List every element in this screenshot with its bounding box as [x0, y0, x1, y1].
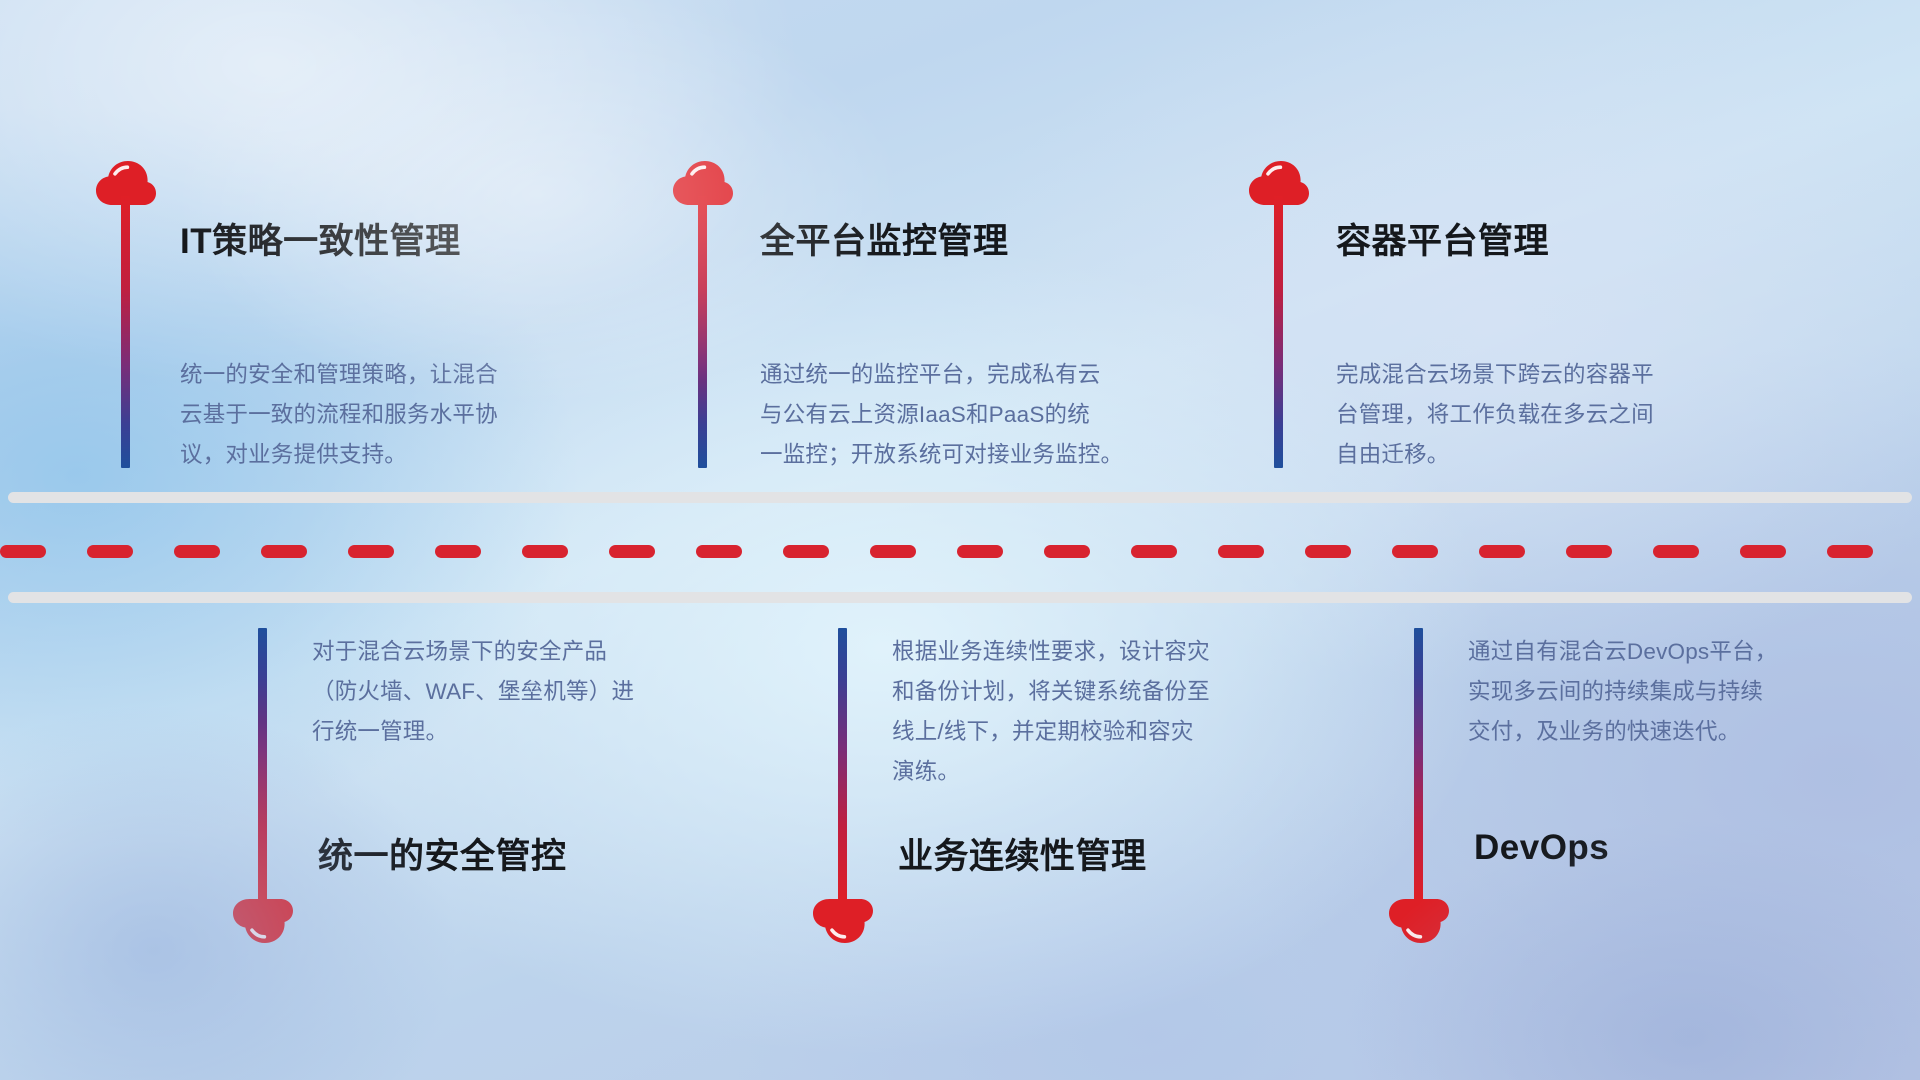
dash-segment: [261, 545, 307, 558]
bottom-column-title: 统一的安全管控: [318, 828, 567, 879]
dash-segment: [0, 545, 46, 558]
dashed-red-line: [0, 544, 1920, 558]
dash-segment: [522, 545, 568, 558]
timeline-pin: [121, 196, 130, 468]
dash-segment: [1653, 545, 1699, 558]
bottom-column-title: 业务连续性管理: [898, 828, 1147, 879]
timeline-pin: [698, 196, 707, 468]
bottom-column-body: 对于混合云场景下的安全产品 （防火墙、WAF、堡垒机等）进 行统一管理。: [312, 632, 742, 752]
top-column-body: 完成混合云场景下跨云的容器平 台管理，将工作负载在多云之间 自由迁移。: [1336, 355, 1776, 475]
dash-segment: [348, 545, 394, 558]
infographic-canvas: IT策略一致性管理 统一的安全和管理策略，让混合 云基于一致的流程和服务水平协 …: [0, 0, 1920, 1080]
dash-segment: [174, 545, 220, 558]
dash-segment: [87, 545, 133, 558]
top-column-title: 容器平台管理: [1336, 213, 1549, 264]
dash-segment: [1740, 545, 1786, 558]
top-column-body: 统一的安全和管理策略，让混合 云基于一致的流程和服务水平协 议，对业务提供支持。: [180, 355, 610, 475]
dash-segment: [1305, 545, 1351, 558]
dash-segment: [1131, 545, 1177, 558]
timeline-pin: [1414, 628, 1423, 903]
cloud-icon: [812, 898, 874, 944]
timeline-pin: [258, 628, 267, 903]
dash-segment: [957, 545, 1003, 558]
top-column-title: 全平台监控管理: [760, 213, 1009, 264]
dash-segment: [783, 545, 829, 558]
dash-segment: [696, 545, 742, 558]
divider-rail-upper: [8, 492, 1912, 503]
timeline-pin: [1274, 196, 1283, 468]
dash-segment: [1479, 545, 1525, 558]
timeline-pin: [838, 628, 847, 903]
top-column-body: 通过统一的监控平台，完成私有云 与公有云上资源IaaS和PaaS的统 一监控；开…: [760, 355, 1210, 475]
cloud-icon: [232, 898, 294, 944]
bottom-column-body: 通过自有混合云DevOps平台， 实现多云间的持续集成与持续 交付，及业务的快速…: [1468, 632, 1898, 752]
bottom-column-body: 根据业务连续性要求，设计容灾 和备份计划，将关键系统备份至 线上/线下，并定期校…: [892, 632, 1332, 792]
dash-segment: [1044, 545, 1090, 558]
dash-segment: [870, 545, 916, 558]
dash-segment: [1392, 545, 1438, 558]
dash-segment: [435, 545, 481, 558]
dash-segment: [1218, 545, 1264, 558]
divider-rail-lower: [8, 592, 1912, 603]
bottom-column-title: DevOps: [1474, 828, 1609, 868]
dash-segment: [1566, 545, 1612, 558]
top-column-title: IT策略一致性管理: [180, 213, 461, 264]
dash-segment: [609, 545, 655, 558]
cloud-icon: [1388, 898, 1450, 944]
dash-segment: [1827, 545, 1873, 558]
